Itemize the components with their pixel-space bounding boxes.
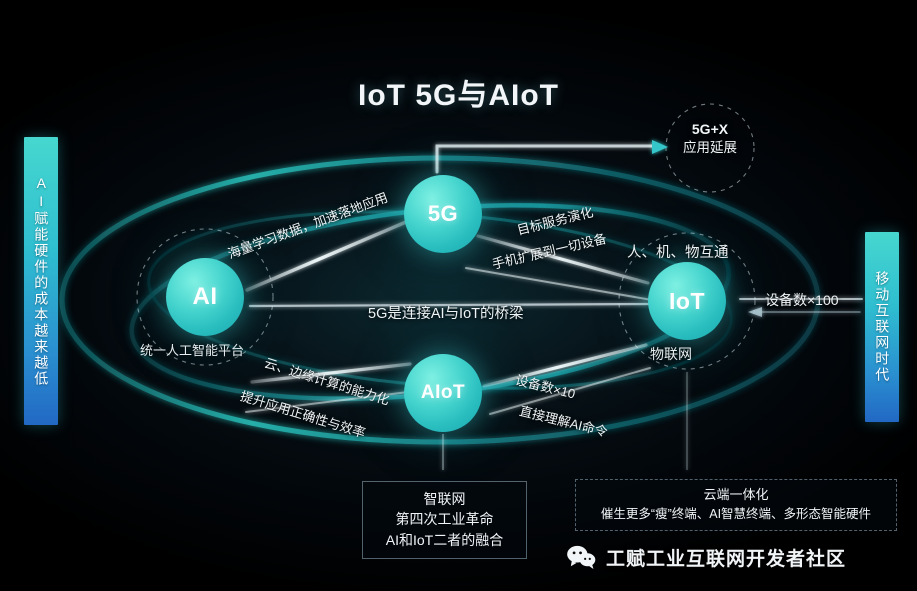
info-box-aiot-fusion: 智联网 第四次工业革命 AI和IoT二者的融合	[362, 481, 527, 559]
label-ai-to-5g: 海量学习数据，加速落地应用	[225, 187, 390, 263]
label-devices-x10: 设备数×10	[514, 369, 578, 402]
label-center-bridge: 5G是连接AI与IoT的桥梁	[368, 302, 524, 323]
bubble-5gx-line2: 应用延展	[668, 139, 752, 157]
info-box-right-line1: 云端一体化	[584, 486, 888, 505]
label-ai-command: 直接理解AI命令	[518, 400, 610, 440]
connector-5g-to-5gx	[437, 146, 652, 172]
connector-aiot-to-iot-a	[484, 345, 646, 386]
node-5g[interactable]: 5G	[404, 175, 482, 253]
footer-watermark: 工赋工业互联网开发者社区	[566, 535, 846, 579]
info-box-center-line1: 智联网	[369, 489, 520, 509]
node-ai-label: AI	[193, 283, 218, 311]
sidebar-left-ai-cost: AI赋能硬件的成本越来越低	[24, 137, 58, 425]
arrow-5gx	[652, 140, 668, 154]
info-box-right-line2: 催生更多“瘦”终端、AI智慧终端、多形态智能硬件	[584, 505, 888, 523]
sidebar-left-label: AI赋能硬件的成本越来越低	[33, 175, 50, 387]
arrow-iot-right	[748, 307, 762, 317]
sidebar-right-mobile-era: 移动互联网时代	[865, 232, 899, 422]
footer-watermark-text: 工赋工业互联网开发者社区	[606, 544, 846, 571]
node-5g-label: 5G	[428, 201, 458, 227]
node-aiot[interactable]: AIoT	[404, 354, 482, 432]
sidebar-right-label: 移动互联网时代	[874, 271, 891, 383]
page-title: IoT 5G与AIoT	[0, 70, 917, 114]
node-ai-caption: 统一人工智能平台	[140, 340, 244, 359]
bubble-5g-plus-x: 5G+X 应用延展	[668, 120, 752, 157]
label-5g-to-iot-bottom: 手机扩展到一切设备	[490, 228, 608, 273]
wechat-icon	[566, 545, 596, 569]
node-ai[interactable]: AI	[166, 258, 244, 336]
info-box-cloud-integration: 云端一体化 催生更多“瘦”终端、AI智慧终端、多形态智能硬件	[575, 479, 897, 531]
diagram-canvas: IoT 5G与AIoT AI赋能硬件的成本越来越低 移动互联网时代 AI 5G …	[0, 0, 917, 591]
node-iot[interactable]: IoT	[648, 262, 726, 340]
label-devices-x100: 设备数×100	[765, 290, 839, 310]
bubble-5gx-line1: 5G+X	[668, 120, 752, 139]
info-box-center-line2: 第四次工业革命	[369, 509, 520, 529]
info-box-center-line3: AI和IoT二者的融合	[369, 530, 520, 550]
node-iot-label: IoT	[669, 288, 705, 315]
node-aiot-label: AIoT	[421, 382, 465, 404]
label-human-machine-thing: 人、机、物互通	[627, 241, 729, 262]
node-iot-caption: 物联网	[650, 344, 692, 364]
